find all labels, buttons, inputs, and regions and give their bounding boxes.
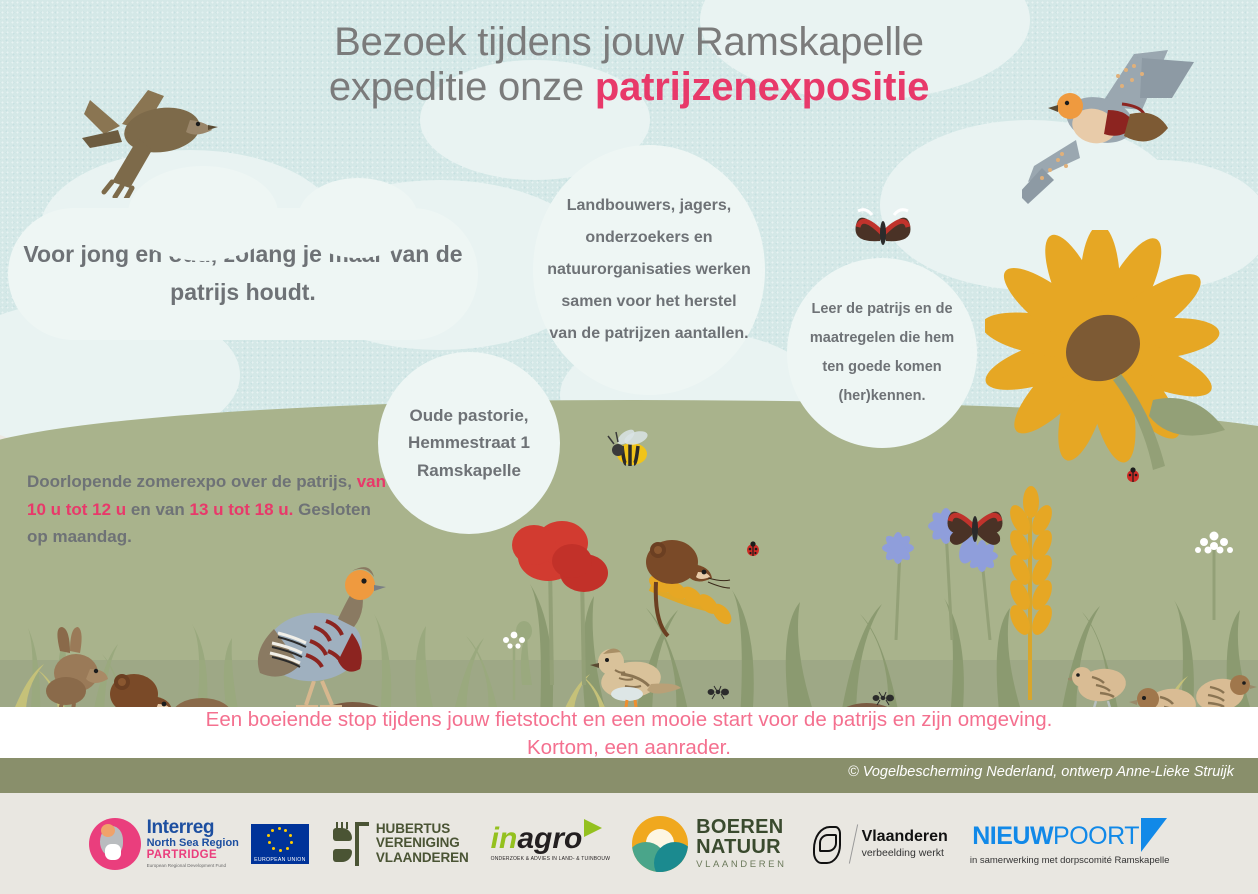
flemish-lion-icon — [809, 822, 845, 866]
hours-afternoon: 13 u tot 18 u. — [190, 500, 294, 519]
vlaanderen-name: Vlaanderen — [862, 828, 948, 846]
ant-icon — [705, 684, 731, 700]
boerennatuur-line-2: NATUUR — [696, 837, 786, 857]
band-line-1: Een boeiende stop tijdens jouw fietstoch… — [206, 706, 1053, 734]
nieuwpoort-bold: NIEUW — [972, 822, 1053, 851]
nieuwpoort-normal: POORT — [1053, 822, 1139, 851]
inagro-tagline: ONDERZOEK & ADVIES IN LAND- & TUINBOUW — [491, 856, 610, 862]
ant-icon — [870, 690, 896, 706]
poster: Bezoek tijdens jouw Ramskapelle expediti… — [0, 0, 1258, 894]
hubertus-mark-icon — [331, 822, 371, 866]
inagro-bird-icon — [584, 819, 602, 837]
logo-hubertus-vereniging[interactable]: HUBERTUS VERENIGING VLAANDEREN — [331, 822, 469, 866]
logo-boerennatuur[interactable]: BOEREN NATUUR VLAANDEREN — [632, 816, 786, 872]
highlight-band-text: Een boeiende stop tijdens jouw fietstoch… — [0, 706, 1258, 761]
bubble-learn-text: Leer de patrijs en de maatregelen die he… — [787, 295, 977, 411]
partridge-badge-icon — [89, 818, 141, 870]
hours-part-1: Doorlopende zomerexpo over de patrijs, — [27, 472, 357, 491]
bubble-partners-text: Landbouwers, jagers, onderzoekers en nat… — [533, 190, 765, 350]
title-highlight: patrijzenexpositie — [595, 65, 929, 109]
bubble-partners: Landbouwers, jagers, onderzoekers en nat… — [533, 145, 765, 395]
nieuwpoort-tagline: in samerwerking met dorpscomité Ramskape… — [970, 855, 1170, 866]
divider — [848, 824, 857, 863]
boerennatuur-line-3: VLAANDEREN — [696, 859, 786, 870]
boerennatuur-line-1: BOEREN — [696, 817, 786, 837]
bee-icon — [604, 428, 658, 472]
hubertus-line-1: HUBERTUS — [376, 822, 469, 836]
vlaanderen-tagline: verbeelding werkt — [862, 847, 948, 859]
eu-caption: EUROPEAN UNION — [251, 857, 309, 863]
bubble-audience: Voor jong en oud, zolang je maar van de … — [8, 208, 478, 340]
inagro-agro: agro — [517, 825, 582, 852]
logo-interreg-partridge[interactable]: Interreg North Sea Region PARTRIDGE Euro… — [89, 818, 309, 870]
eu-flag-icon: EUROPEAN UNION — [251, 824, 309, 864]
bubble-learn: Leer de patrijs en de maatregelen die he… — [787, 258, 977, 448]
butterfly-icon — [944, 495, 1006, 555]
interreg-fund: European Regional Development Fund — [147, 864, 239, 869]
logo-inagro[interactable]: inagro ONDERZOEK & ADVIES IN LAND- & TUI… — [491, 825, 610, 862]
interreg-name: Interreg — [147, 818, 239, 837]
hubertus-line-3: VLAANDEREN — [376, 851, 469, 865]
cornflower-icon — [840, 440, 1040, 640]
credit-text: © Vogelbescherming Nederland, ontwerp An… — [848, 764, 1234, 780]
sunflower-icon — [985, 230, 1235, 470]
logo-footer: Interreg North Sea Region PARTRIDGE Euro… — [0, 793, 1258, 894]
opening-hours: Doorlopende zomerexpo over de patrijs, v… — [27, 468, 392, 551]
butterfly-icon — [852, 205, 914, 257]
partridge-standing-icon — [248, 555, 388, 715]
bubble-address-text: Oude pastorie, Hemmestraat 1 Ramskapelle — [378, 402, 560, 485]
page-title: Bezoek tijdens jouw Ramskapelle expediti… — [0, 20, 1258, 110]
logo-vlaanderen[interactable]: Vlaanderen verbeelding werkt — [809, 822, 948, 866]
title-line-1: Bezoek tijdens jouw Ramskapelle — [334, 20, 924, 64]
sail-icon — [1141, 818, 1167, 852]
bubble-audience-text: Voor jong en oud, zolang je maar van de … — [8, 236, 478, 312]
inagro-in: in — [491, 825, 518, 852]
white-umbel-flower-icon — [1180, 520, 1250, 620]
logo-nieuwpoort[interactable]: NIEUWPOORT in samerwerking met dorpscomi… — [970, 822, 1170, 866]
title-line-2-prefix: expeditie onze — [329, 65, 595, 109]
boerennatuur-mark-icon — [632, 816, 688, 872]
hubertus-line-2: VERENIGING — [376, 836, 469, 850]
ladybird-icon — [1124, 467, 1142, 483]
interreg-region: North Sea Region — [147, 838, 239, 849]
bubble-address: Oude pastorie, Hemmestraat 1 Ramskapelle — [378, 352, 560, 534]
hours-part-3: en van — [126, 500, 189, 519]
interreg-project: PARTRIDGE — [147, 850, 239, 862]
